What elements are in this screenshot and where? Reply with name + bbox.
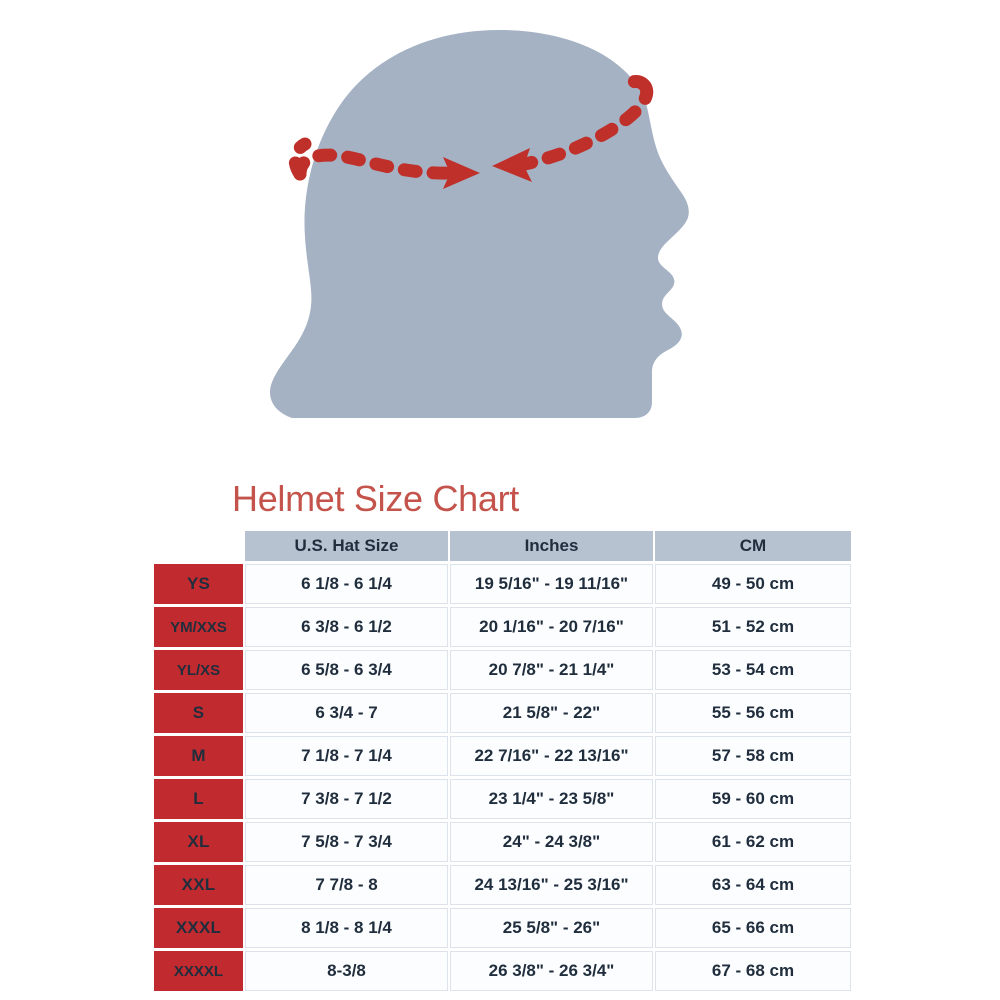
table-header-row: U.S. Hat Size Inches CM: [154, 531, 851, 561]
table-row: L7 3/8 - 7 1/223 1/4" - 23 5/8"59 - 60 c…: [154, 779, 851, 819]
size-label-cell: L: [154, 779, 243, 819]
table-row: YM/XXS6 3/8 - 6 1/220 1/16" - 20 7/16"51…: [154, 607, 851, 647]
hat-value-cell: 6 1/8 - 6 1/4: [245, 564, 448, 604]
size-label-cell: XXXL: [154, 908, 243, 948]
inches-value-cell: 20 1/16" - 20 7/16": [450, 607, 653, 647]
column-header-inches: Inches: [450, 531, 653, 561]
table-header: U.S. Hat Size Inches CM: [154, 531, 851, 561]
inches-value-cell: 19 5/16" - 19 11/16": [450, 564, 653, 604]
hat-value-cell: 7 3/8 - 7 1/2: [245, 779, 448, 819]
table-row: XL7 5/8 - 7 3/424" - 24 3/8"61 - 62 cm: [154, 822, 851, 862]
hat-value-cell: 8-3/8: [245, 951, 448, 991]
hat-value-cell: 7 1/8 - 7 1/4: [245, 736, 448, 776]
size-label-cell: XXXXL: [154, 951, 243, 991]
cm-value-cell: 53 - 54 cm: [655, 650, 851, 690]
size-label-cell: S: [154, 693, 243, 733]
inches-value-cell: 24" - 24 3/8": [450, 822, 653, 862]
hat-value-cell: 7 5/8 - 7 3/4: [245, 822, 448, 862]
table-row: XXXL8 1/8 - 8 1/425 5/8" - 26"65 - 66 cm: [154, 908, 851, 948]
table-row: YL/XS6 5/8 - 6 3/420 7/8" - 21 1/4"53 - …: [154, 650, 851, 690]
column-header-cm: CM: [655, 531, 851, 561]
inches-value-cell: 23 1/4" - 23 5/8": [450, 779, 653, 819]
size-label-cell: YL/XS: [154, 650, 243, 690]
size-label-cell: YM/XXS: [154, 607, 243, 647]
cm-value-cell: 55 - 56 cm: [655, 693, 851, 733]
helmet-size-table: U.S. Hat Size Inches CM YS6 1/8 - 6 1/41…: [152, 528, 853, 994]
inches-value-cell: 24 13/16" - 25 3/16": [450, 865, 653, 905]
table-row: M7 1/8 - 7 1/422 7/16" - 22 13/16"57 - 5…: [154, 736, 851, 776]
inches-value-cell: 22 7/16" - 22 13/16": [450, 736, 653, 776]
size-chart-table-container: U.S. Hat Size Inches CM YS6 1/8 - 6 1/41…: [152, 528, 849, 994]
size-label-cell: YS: [154, 564, 243, 604]
helmet-size-chart-page: Helmet Size Chart U.S. Hat Size Inches C…: [0, 0, 1000, 1000]
table-row: XXL7 7/8 - 824 13/16" - 25 3/16"63 - 64 …: [154, 865, 851, 905]
hat-value-cell: 7 7/8 - 8: [245, 865, 448, 905]
table-row: YS6 1/8 - 6 1/419 5/16" - 19 11/16"49 - …: [154, 564, 851, 604]
table-row: XXXXL8-3/826 3/8" - 26 3/4"67 - 68 cm: [154, 951, 851, 991]
hat-value-cell: 6 3/8 - 6 1/2: [245, 607, 448, 647]
table-body: YS6 1/8 - 6 1/419 5/16" - 19 11/16"49 - …: [154, 564, 851, 991]
inches-value-cell: 25 5/8" - 26": [450, 908, 653, 948]
inches-value-cell: 26 3/8" - 26 3/4": [450, 951, 653, 991]
hat-value-cell: 6 5/8 - 6 3/4: [245, 650, 448, 690]
cm-value-cell: 49 - 50 cm: [655, 564, 851, 604]
cm-value-cell: 51 - 52 cm: [655, 607, 851, 647]
size-label-cell: XXL: [154, 865, 243, 905]
head-silhouette-shape: [270, 30, 689, 418]
size-label-cell: M: [154, 736, 243, 776]
cm-value-cell: 65 - 66 cm: [655, 908, 851, 948]
size-label-cell: XL: [154, 822, 243, 862]
cm-value-cell: 67 - 68 cm: [655, 951, 851, 991]
cm-value-cell: 57 - 58 cm: [655, 736, 851, 776]
hat-value-cell: 6 3/4 - 7: [245, 693, 448, 733]
cm-value-cell: 59 - 60 cm: [655, 779, 851, 819]
hat-value-cell: 8 1/8 - 8 1/4: [245, 908, 448, 948]
inches-value-cell: 20 7/8" - 21 1/4": [450, 650, 653, 690]
column-header-us-hat-size: U.S. Hat Size: [245, 531, 448, 561]
page-title: Helmet Size Chart: [232, 478, 519, 520]
cm-value-cell: 61 - 62 cm: [655, 822, 851, 862]
cm-value-cell: 63 - 64 cm: [655, 865, 851, 905]
table-header-empty-cell: [154, 531, 243, 561]
table-row: S6 3/4 - 721 5/8" - 22"55 - 56 cm: [154, 693, 851, 733]
inches-value-cell: 21 5/8" - 22": [450, 693, 653, 733]
head-measurement-illustration: [0, 0, 1000, 455]
